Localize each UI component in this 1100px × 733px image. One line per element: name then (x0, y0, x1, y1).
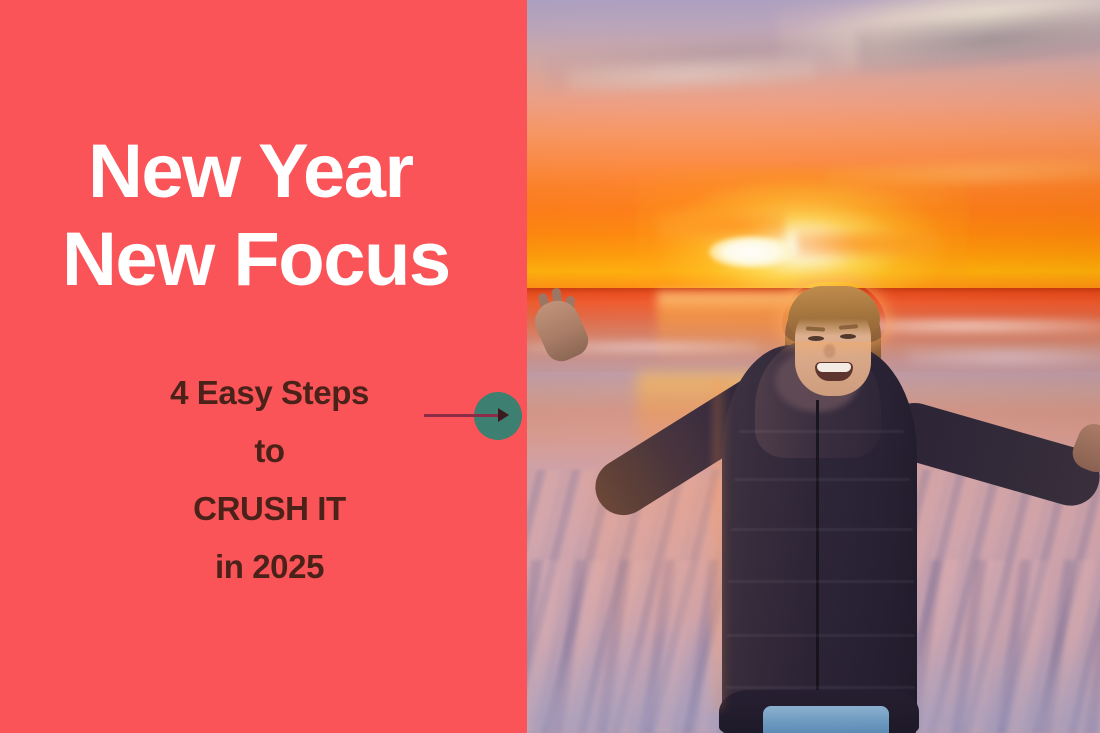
subheading-block: 4 Easy Steps to CRUSH IT in 2025 (62, 364, 477, 596)
jacket-seam (734, 478, 910, 481)
subheading-line-1: 4 Easy Steps (62, 364, 477, 422)
jacket-seam (725, 686, 915, 689)
subheading-line-3: CRUSH IT (62, 480, 477, 538)
hair-rim-light (782, 282, 886, 342)
arrow-head-icon (498, 408, 509, 422)
jacket-seam (731, 528, 913, 531)
teeth (817, 363, 851, 372)
nose (824, 344, 835, 358)
arrow-right-icon (424, 414, 502, 417)
callout-arrow-group (420, 392, 524, 442)
headline-line-1: New Year (62, 128, 522, 216)
beach-sunrise-photo (527, 0, 1100, 733)
headline-line-2: New Focus (62, 216, 522, 304)
headline-block: New Year New Focus (62, 128, 522, 304)
jacket-zipper (816, 400, 819, 730)
subheading-line-2: to (62, 422, 477, 480)
jacket-seam (726, 634, 915, 637)
eye-right (840, 334, 856, 339)
woman-figure (527, 0, 1100, 733)
jacket-seam (728, 580, 914, 583)
body-rim-light (713, 380, 729, 710)
eye-left (808, 336, 824, 341)
left-hand (529, 294, 594, 367)
promo-banner: New Year New Focus 4 Easy Steps to CRUSH… (0, 0, 1100, 733)
jeans (763, 706, 889, 733)
subheading-line-4: in 2025 (62, 538, 477, 596)
jacket-seam (739, 430, 904, 433)
left-text-panel: New Year New Focus 4 Easy Steps to CRUSH… (0, 0, 527, 733)
